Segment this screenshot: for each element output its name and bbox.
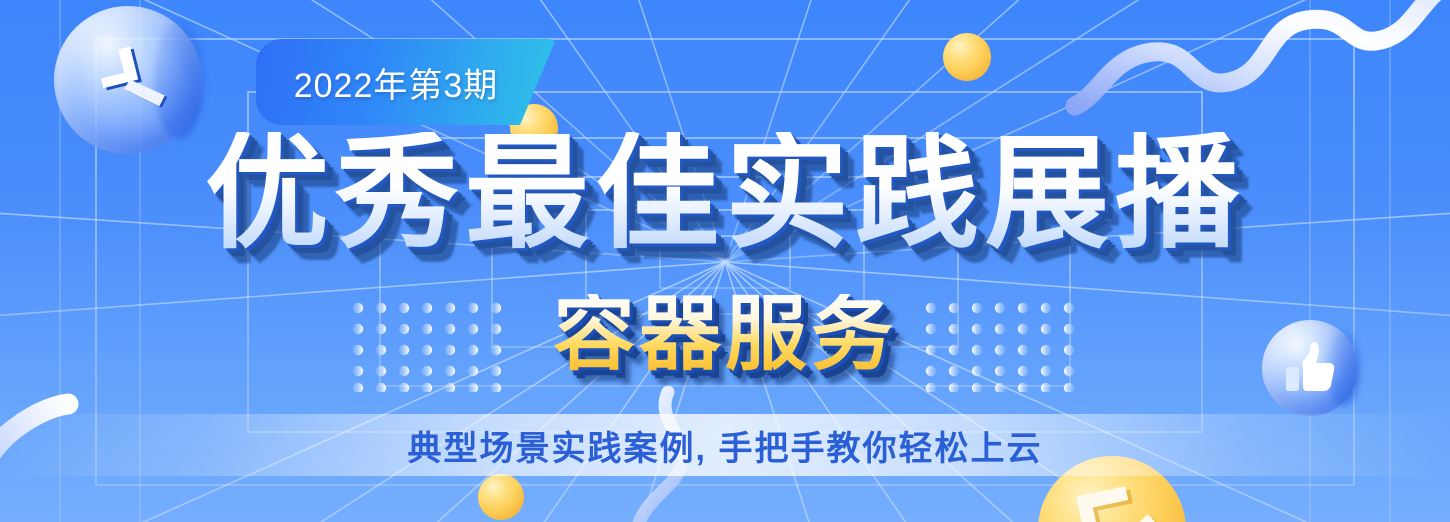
gold-sphere-top [943,33,991,81]
banner-main-title: 优秀最佳实践展播 [0,132,1450,256]
banner-tagline: 典型场景实践案例, 手把手教你轻松上云 [408,421,1043,470]
wave-ribbon-top-right [1075,0,1450,112]
clock-icon [67,19,188,140]
issue-badge: 2022年第3期 [256,39,556,125]
banner-sub-title: 容器服务 [0,294,1450,376]
issue-badge-label: 2022年第3期 [294,58,499,107]
thumbs-up-icon [1281,339,1339,397]
gold-sphere-bottom [478,474,524,520]
promo-banner: 2022年第3期 优秀最佳实践展播 容器服务 典型场景实践案例, 手把手教你轻松… [0,0,1450,522]
tagline-band: 典型场景实践案例, 手把手教你轻松上云 [0,414,1450,476]
